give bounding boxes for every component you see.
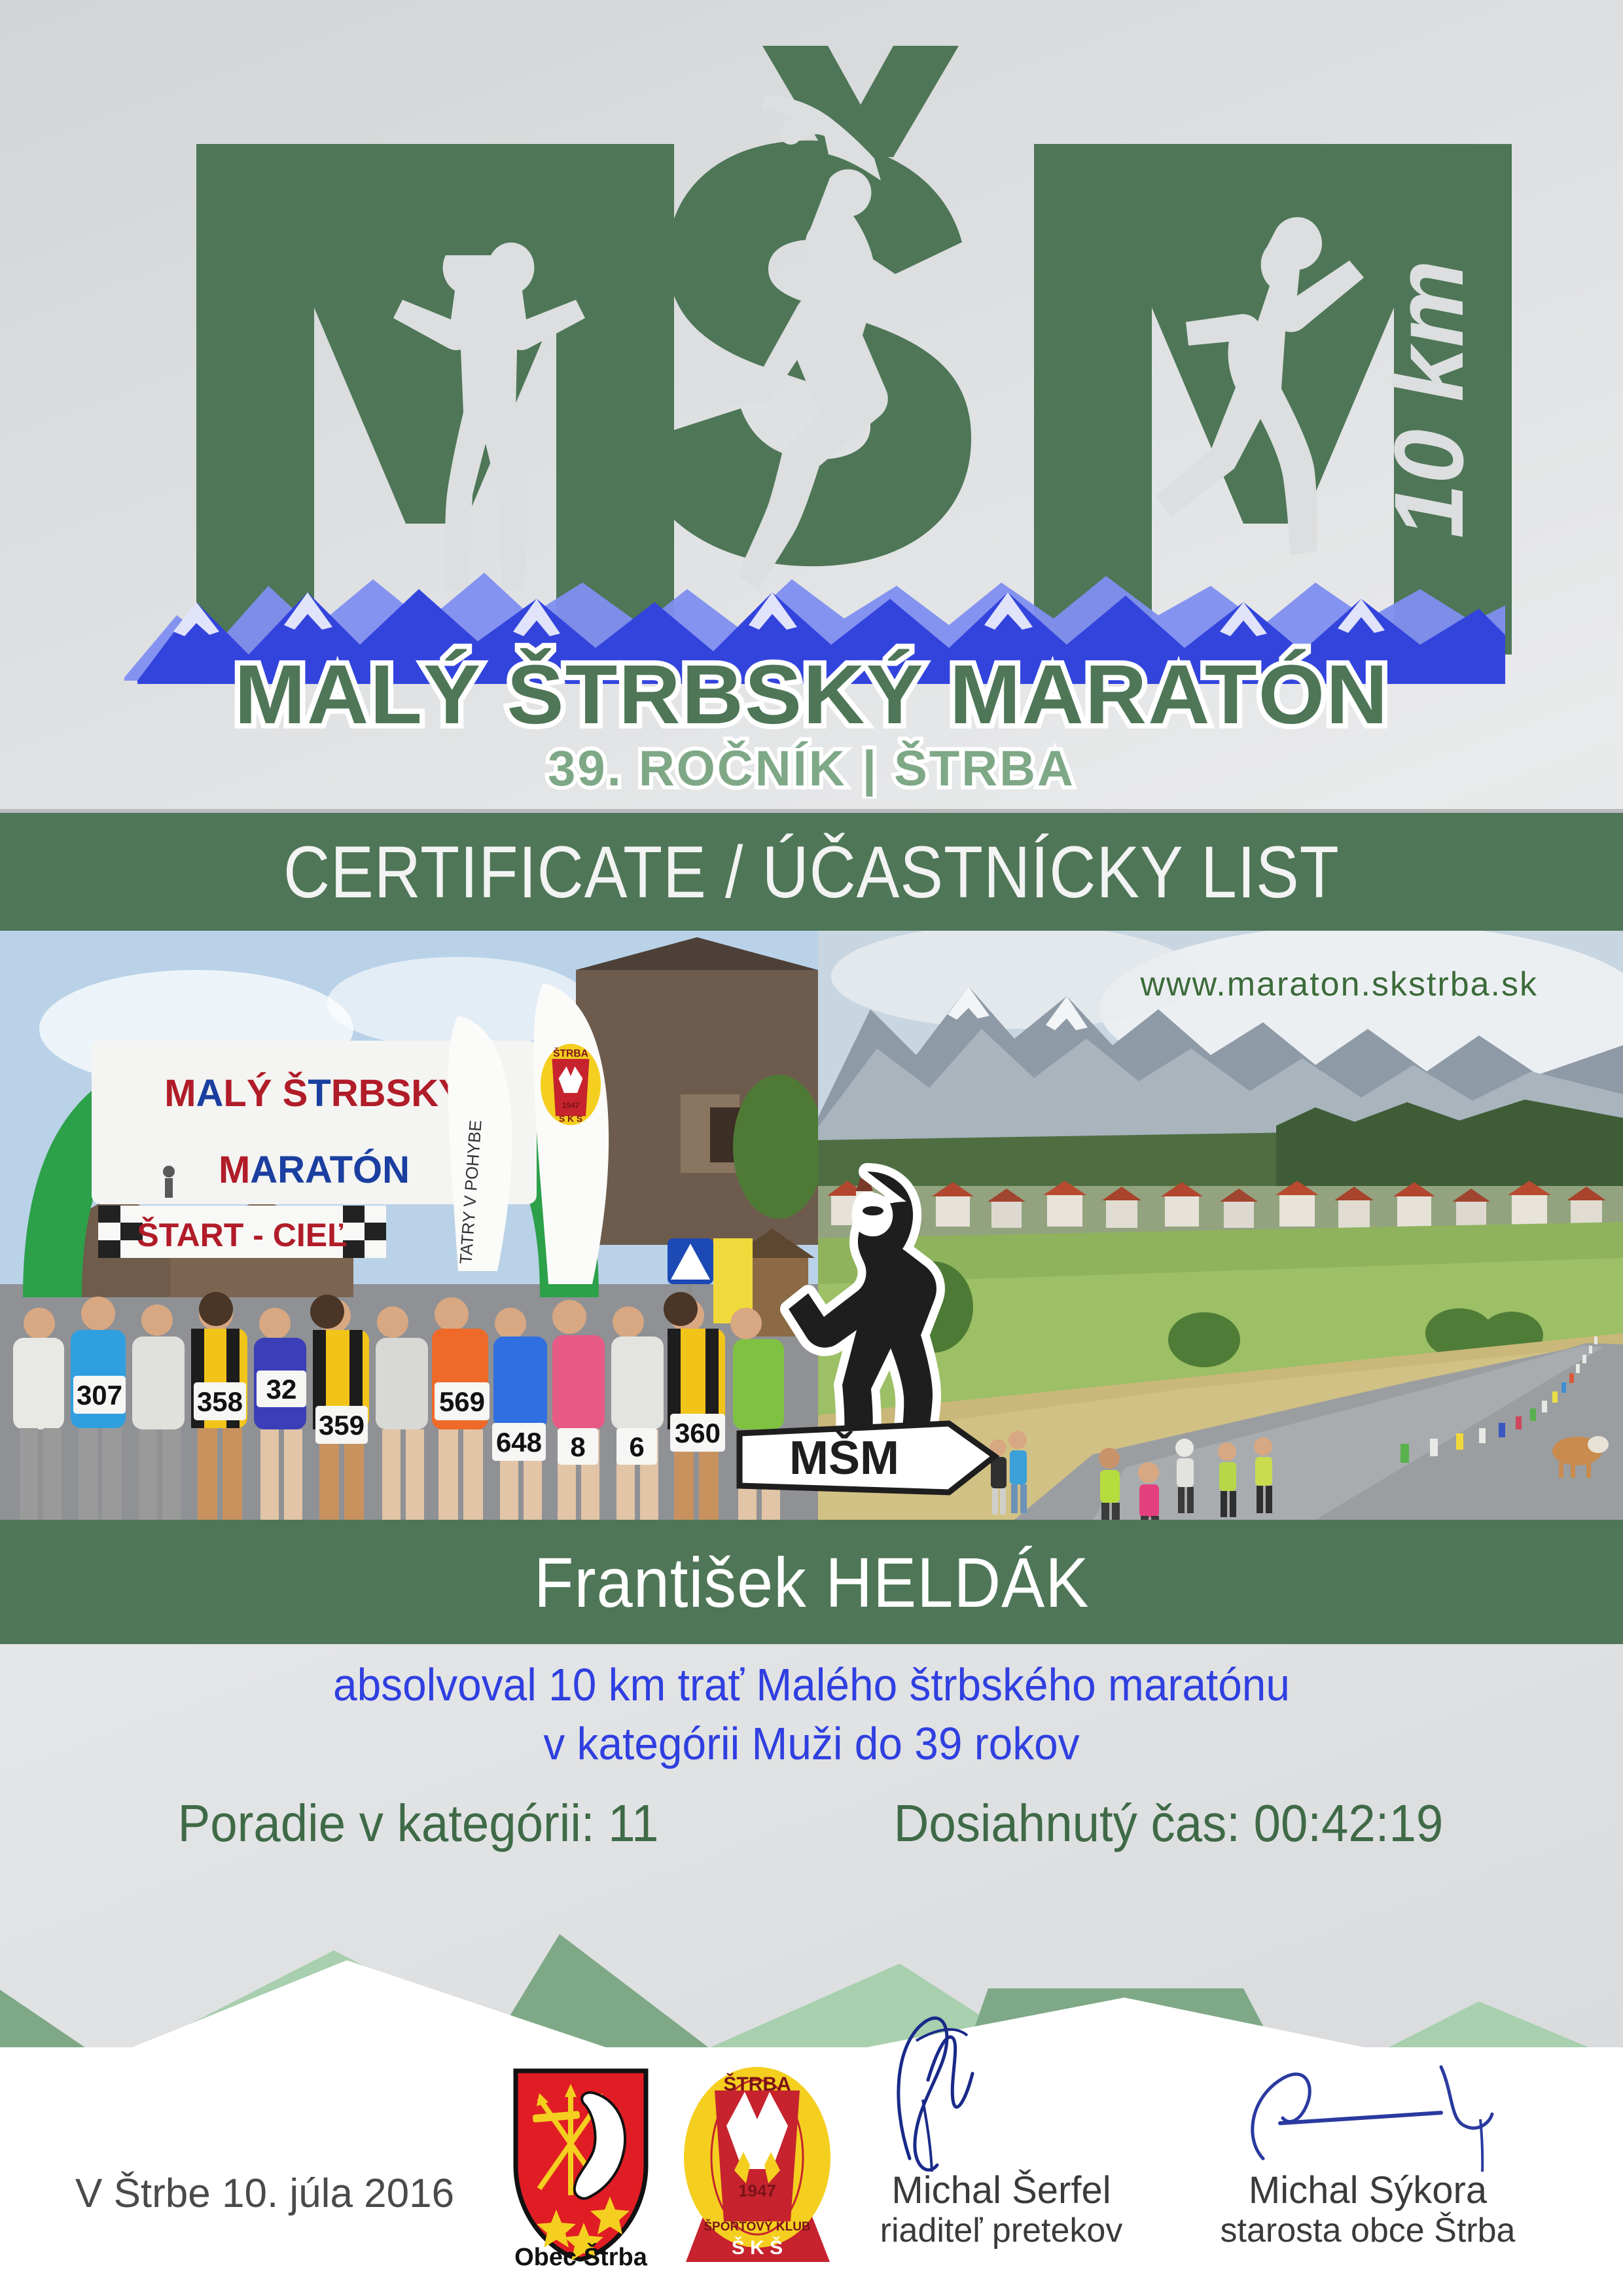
obec-strba-crest-icon — [510, 2067, 651, 2263]
event-edition-subtitle: 39. ROČNÍK | ŠTRBA — [548, 741, 1075, 797]
sks-top-text: ŠTRBA — [723, 2073, 791, 2095]
sks-year: 1947 — [738, 2181, 776, 2200]
event-logo-header: 31 km 10 km — [0, 0, 1623, 795]
svg-text:569: 569 — [439, 1386, 485, 1417]
sks-initials: Š K Š — [732, 2236, 783, 2259]
svg-text:307: 307 — [77, 1380, 122, 1410]
signature-scribble-icon — [818, 2001, 1185, 2172]
finish-time: Dosiahnutý čas: 00:42:19 — [893, 1793, 1443, 1854]
participant-name: František HELDÁK — [534, 1541, 1090, 1623]
msm-logo-graphic: 31 km 10 km — [98, 26, 1525, 798]
msm-runner-emblem: MŠM — [733, 1158, 1008, 1505]
svg-text:ŠTART - CIEĽ: ŠTART - CIEĽ — [137, 1216, 347, 1253]
certificate-title: CERTIFICATE / ÚČASTNÍCKY LIST — [283, 830, 1340, 914]
signature-role-director: riaditeľ pretekov — [818, 2211, 1185, 2250]
certificate-title-band: CERTIFICATE / ÚČASTNÍCKY LIST — [0, 813, 1623, 931]
participant-name-band: František HELDÁK — [0, 1520, 1623, 1644]
runner-foreground-2 — [1218, 1443, 1236, 1517]
svg-text:6: 6 — [629, 1431, 644, 1462]
footer: V Štrbe 10. júla 2016 — [0, 2047, 1623, 2296]
svg-text:358: 358 — [197, 1386, 243, 1417]
runner-foreground-3 — [1254, 1437, 1272, 1513]
start-line-photo: MALÝ ŠTRBSKÝ MARATÓN ŠTART - — [0, 931, 818, 1520]
arch-text-line1: MALÝ ŠTRBSKÝ — [164, 1072, 464, 1115]
distance-10km-label: 10 km — [1374, 260, 1484, 538]
place-and-date: V Štrbe 10. júla 2016 — [75, 2170, 454, 2217]
description-line-2: v kategórii Muži do 39 rokov — [48, 1715, 1574, 1774]
participant-description: absolvoval 10 km trať Malého štrbského m… — [0, 1656, 1623, 1773]
svg-text:8: 8 — [570, 1431, 585, 1462]
website-url[interactable]: www.maraton.skstrba.sk — [1141, 965, 1539, 1004]
sks-arc-text: ŠPORTOVÝ KLUB — [704, 2219, 810, 2234]
results-row: Poradie v kategórii: 11 Dosiahnutý čas: … — [0, 1793, 1623, 1854]
description-line-1: absolvoval 10 km trať Malého štrbského m… — [48, 1656, 1574, 1715]
svg-text:1947: 1947 — [562, 1101, 580, 1110]
obec-strba-label: Obec Štrba — [510, 2244, 651, 2272]
runner-foreground-pink — [1138, 1462, 1159, 1520]
certificate-page: 31 km 10 km — [0, 0, 1623, 2296]
arch-text-line2: MARATÓN — [219, 1149, 410, 1191]
logo-letter-m-left: 31 km — [176, 144, 674, 655]
svg-text:648: 648 — [496, 1427, 542, 1458]
runner-foreground-green — [1099, 1448, 1120, 1520]
signature-scribble-icon — [1185, 2001, 1551, 2172]
event-name-title: MALÝ ŠTRBSKÝ MARATÓN — [234, 647, 1389, 742]
signature-name-mayor: Michal Sýkora — [1185, 2168, 1551, 2212]
start-finish-banner: ŠTART - CIEĽ — [98, 1206, 386, 1258]
svg-text:ŠTRBA: ŠTRBA — [553, 1047, 588, 1060]
msm-ribbon: MŠM — [740, 1424, 995, 1492]
logo-letter-s-caron — [630, 46, 971, 589]
svg-text:32: 32 — [266, 1374, 297, 1405]
signature-name-director: Michal Šerfel — [818, 2168, 1185, 2212]
msm-ribbon-text: MŠM — [789, 1431, 899, 1484]
svg-text:359: 359 — [319, 1410, 365, 1441]
runner-foreground-1 — [1175, 1439, 1194, 1513]
svg-text:S K S: S K S — [559, 1114, 582, 1124]
sks-club-logo-icon: ŠTRBA 1947 Š K Š ŠPORTOVÝ KLUB — [681, 2066, 834, 2269]
svg-text:360: 360 — [675, 1418, 721, 1448]
signature-role-mayor: starosta obce Štrba — [1185, 2211, 1551, 2250]
category-rank: Poradie v kategórii: 11 — [177, 1793, 658, 1854]
